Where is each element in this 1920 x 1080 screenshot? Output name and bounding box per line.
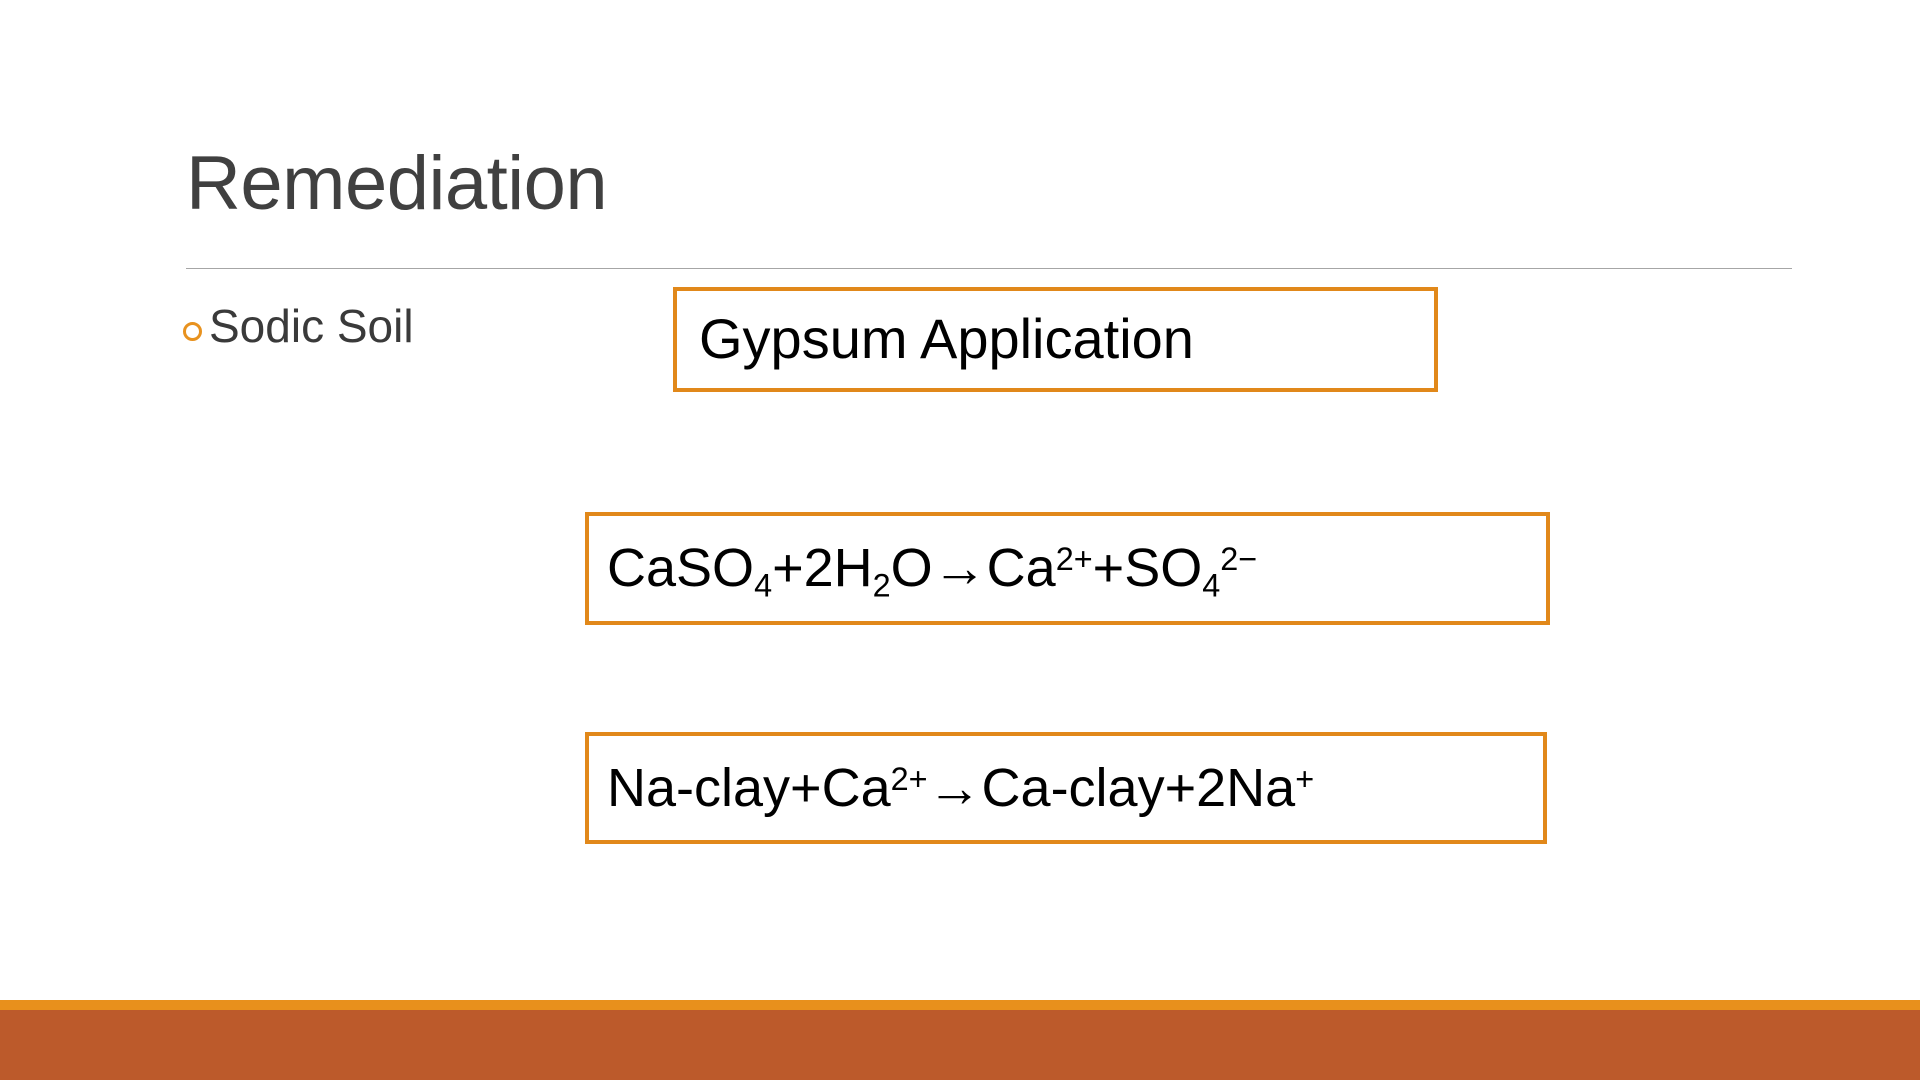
list-item: Sodic Soil bbox=[183, 300, 603, 353]
title-block: Remediation bbox=[186, 146, 1796, 222]
title-divider bbox=[186, 268, 1792, 269]
text-box-gypsum-application: Gypsum Application bbox=[673, 287, 1438, 392]
gypsum-dissolution-equation-text: CaSO4+2H2O→Ca2++SO42− bbox=[589, 540, 1257, 597]
open-circle-bullet-icon bbox=[183, 314, 209, 345]
footer-band bbox=[0, 1010, 1920, 1080]
text-box-gypsum-dissolution-equation: CaSO4+2H2O→Ca2++SO42− bbox=[585, 512, 1550, 625]
text-box-cation-exchange-equation: Na-clay+Ca2+→Ca-clay+2Na+ bbox=[585, 732, 1547, 844]
slide-canvas: Remediation Sodic Soil Gypsum Applicatio… bbox=[0, 0, 1920, 1080]
gypsum-application-text: Gypsum Application bbox=[677, 310, 1194, 369]
bullet-list: Sodic Soil bbox=[183, 300, 603, 353]
footer-accent-strip bbox=[0, 1000, 1920, 1010]
page-title: Remediation bbox=[186, 146, 1796, 222]
bullet-item-label: Sodic Soil bbox=[209, 300, 414, 353]
cation-exchange-equation-text: Na-clay+Ca2+→Ca-clay+2Na+ bbox=[589, 760, 1314, 817]
